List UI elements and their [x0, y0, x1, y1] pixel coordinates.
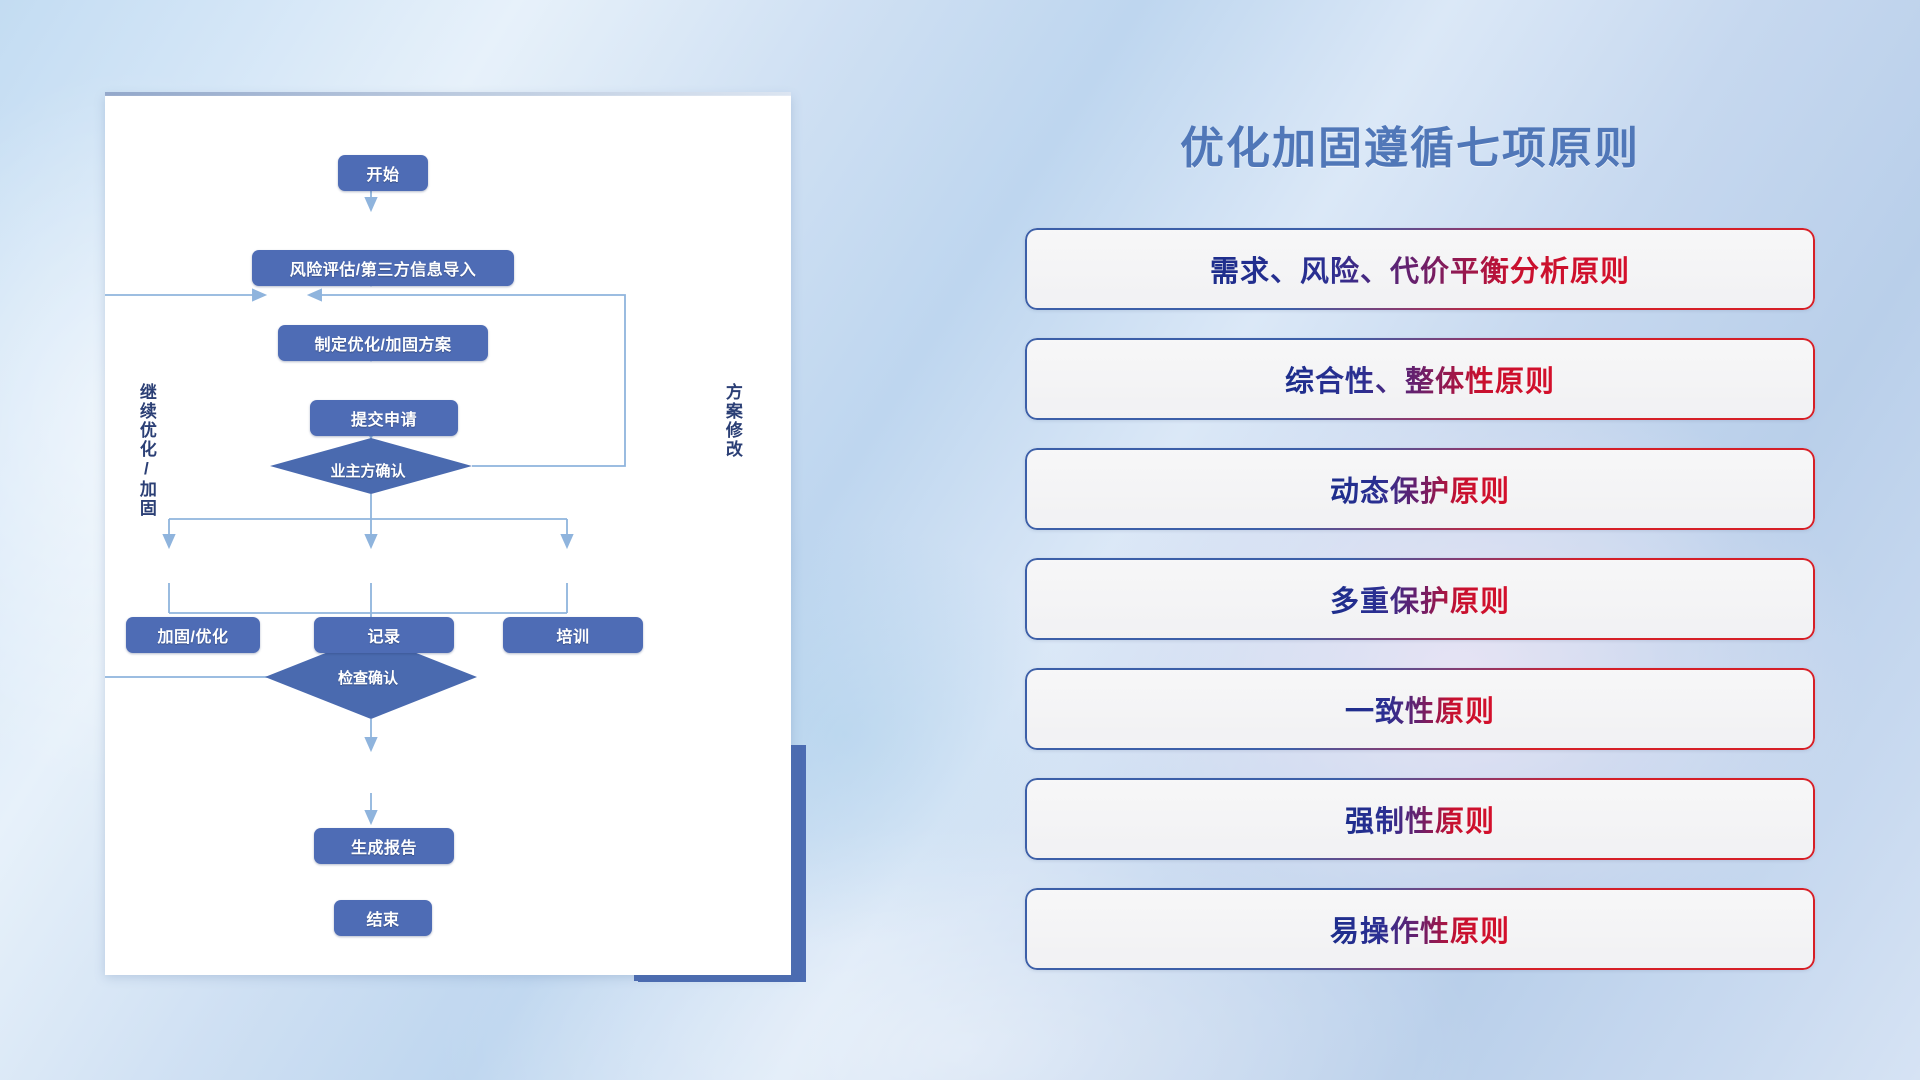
principle-label: 易操作性原则: [1330, 908, 1510, 950]
flow-node-plan[interactable]: 制定优化/加固方案: [278, 325, 488, 361]
page-title: 优化加固遵循七项原则: [900, 112, 1920, 176]
principle-card[interactable]: 一致性原则: [1025, 668, 1815, 750]
decision-owner-confirm-shape: [270, 438, 472, 494]
flow-edge-label-plan-revision: 方案修改: [723, 383, 741, 459]
principle-label: 多重保护原则: [1330, 578, 1510, 620]
flow-edge-label-continue-optimize: 继续优化/加固: [137, 383, 155, 518]
principle-label: 动态保护原则: [1330, 468, 1510, 510]
principle-card[interactable]: 多重保护原则: [1025, 558, 1815, 640]
flow-node-generate-report[interactable]: 生成报告: [314, 828, 454, 864]
principle-card[interactable]: 强制性原则: [1025, 778, 1815, 860]
principle-card[interactable]: 动态保护原则: [1025, 448, 1815, 530]
flowchart-panel: 开始 风险评估/第三方信息导入 制定优化/加固方案 提交申请 业主方确认 加固/…: [0, 0, 900, 1080]
flow-node-reinforce-optimize[interactable]: 加固/优化: [126, 617, 260, 653]
principle-label: 一致性原则: [1345, 688, 1495, 730]
flow-node-end[interactable]: 结束: [334, 900, 432, 936]
principle-label: 强制性原则: [1345, 798, 1495, 840]
principle-label: 综合性、整体性原则: [1285, 358, 1555, 400]
flow-node-training[interactable]: 培训: [503, 617, 643, 653]
flow-node-record[interactable]: 记录: [314, 617, 454, 653]
principle-card[interactable]: 易操作性原则: [1025, 888, 1815, 970]
principle-label: 需求、风险、代价平衡分析原则: [1210, 248, 1630, 290]
principle-card[interactable]: 综合性、整体性原则: [1025, 338, 1815, 420]
flow-node-submit-application[interactable]: 提交申请: [310, 400, 458, 436]
principles-list: 需求、风险、代价平衡分析原则 综合性、整体性原则 动态保护原则 多重保护原则 一…: [1025, 228, 1815, 998]
flow-node-risk-assessment[interactable]: 风险评估/第三方信息导入: [252, 250, 514, 286]
principle-card[interactable]: 需求、风险、代价平衡分析原则: [1025, 228, 1815, 310]
principles-panel: 优化加固遵循七项原则 需求、风险、代价平衡分析原则 综合性、整体性原则 动态保护…: [900, 0, 1920, 1080]
flow-node-start[interactable]: 开始: [338, 155, 428, 191]
